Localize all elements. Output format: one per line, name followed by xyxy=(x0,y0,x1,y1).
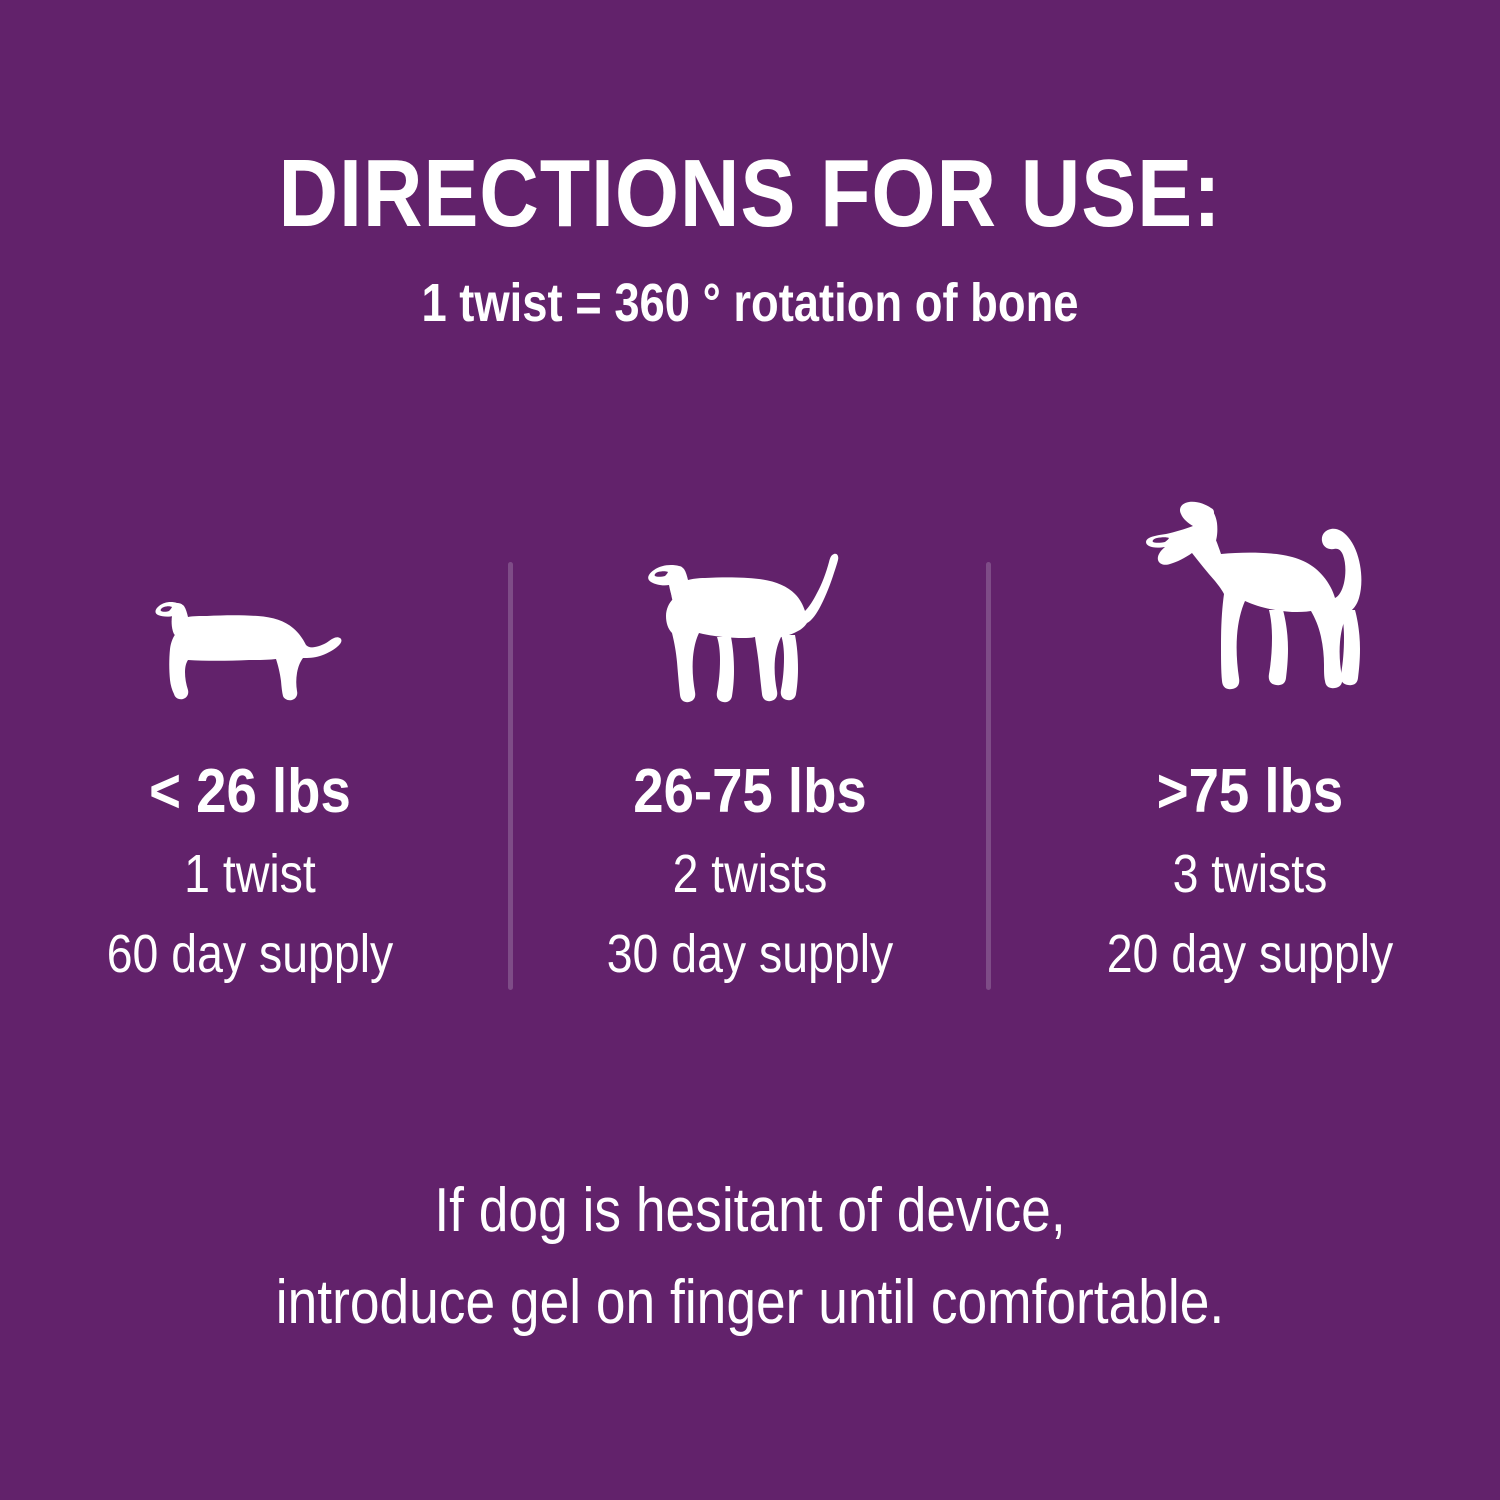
beagle-dog-icon xyxy=(500,470,1000,705)
twists-label: 1 twist xyxy=(35,847,465,901)
supply-label: 20 day supply xyxy=(1035,927,1465,981)
footer-line-1: If dog is hesitant of device, xyxy=(105,1180,1395,1242)
dachshund-dog-icon xyxy=(0,470,500,705)
footer-line-2: introduce gel on finger until comfortabl… xyxy=(105,1272,1395,1334)
weight-range-label: >75 lbs xyxy=(1030,761,1470,823)
twists-label: 2 twists xyxy=(535,847,965,901)
dosage-columns: < 26 lbs 1 twist 60 day supply 26-75 lbs… xyxy=(0,470,1500,990)
dosage-text-small: < 26 lbs 1 twist 60 day supply xyxy=(0,761,500,981)
supply-label: 30 day supply xyxy=(535,927,965,981)
directions-for-use-panel: DIRECTIONS FOR USE: 1 twist = 360 ° rota… xyxy=(0,0,1500,1500)
weight-range-label: < 26 lbs xyxy=(30,761,470,823)
dosage-text-large: >75 lbs 3 twists 20 day supply xyxy=(1000,761,1500,981)
page-title: DIRECTIONS FOR USE: xyxy=(105,146,1395,242)
dosage-column-large: >75 lbs 3 twists 20 day supply xyxy=(1000,470,1500,990)
dosage-column-small: < 26 lbs 1 twist 60 day supply xyxy=(0,470,500,990)
weight-range-label: 26-75 lbs xyxy=(530,761,970,823)
dosage-text-medium: 26-75 lbs 2 twists 30 day supply xyxy=(500,761,1000,981)
large-dog-icon xyxy=(1000,470,1500,705)
dosage-column-medium: 26-75 lbs 2 twists 30 day supply xyxy=(500,470,1000,990)
twists-label: 3 twists xyxy=(1035,847,1465,901)
footer-note: If dog is hesitant of device, introduce … xyxy=(0,1180,1500,1334)
header: DIRECTIONS FOR USE: 1 twist = 360 ° rota… xyxy=(0,0,1500,330)
supply-label: 60 day supply xyxy=(35,927,465,981)
page-subtitle: 1 twist = 360 ° rotation of bone xyxy=(120,276,1380,330)
